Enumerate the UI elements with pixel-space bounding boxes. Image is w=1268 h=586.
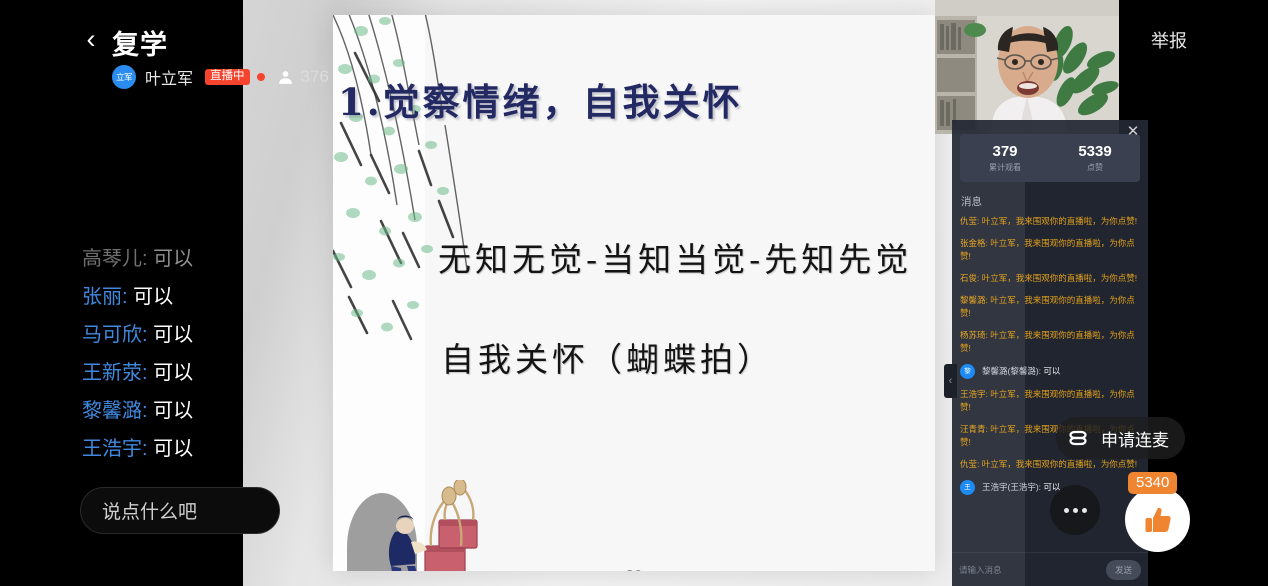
room-header: ‹ 复学 立军 叶立军 直播中 376 xyxy=(0,0,243,110)
overlay-message-text: 可以 xyxy=(148,362,194,384)
chat-message-author: 汪青青: xyxy=(960,424,990,434)
slide-line-1: 无知无觉-当知当觉-先知先觉 xyxy=(438,233,912,281)
viewer-count-group: 376 xyxy=(277,67,329,87)
thumbs-up-icon xyxy=(1141,503,1175,537)
avatar[interactable]: 立军 xyxy=(112,65,136,89)
host-row: 立军 叶立军 直播中 376 xyxy=(112,64,329,90)
chat-input-placeholder[interactable]: 请输入消息 xyxy=(959,564,1106,576)
overlay-message-text: 可以 xyxy=(148,400,194,422)
overlay-message-text: 可以 xyxy=(148,438,194,460)
slide-title: 1.觉察情绪，自我关怀 xyxy=(338,72,743,126)
chat-message-text: 叶立军，我来围观你的直播啦，为你点赞! xyxy=(982,273,1137,283)
avatar[interactable]: 王 xyxy=(960,480,975,495)
slide-stage: 1.觉察情绪，自我关怀 无知无觉-当知当觉-先知先觉 自我关怀（蝴蝶拍） xyxy=(243,0,1025,586)
chat-message-author: 仇莹: xyxy=(960,459,982,469)
slide-card: 1.觉察情绪，自我关怀 无知无觉-当知当觉-先知先觉 自我关怀（蝴蝶拍） xyxy=(333,15,935,571)
report-button[interactable]: 举报 xyxy=(1151,27,1187,53)
chat-gift-message: 杨苏琦: 叶立军，我来围观你的直播啦，为你点赞! xyxy=(960,329,1140,355)
chat-message-author: 仇莹: xyxy=(960,216,982,226)
overlay-message-text: 可以 xyxy=(148,324,194,346)
chat-user-message: 黎黎馨潞(黎馨潞): 可以 xyxy=(960,364,1140,379)
live-pulse-dot xyxy=(257,73,265,81)
viewer-count: 376 xyxy=(301,67,329,87)
composer-input[interactable]: 说点什么吧 xyxy=(80,487,280,534)
slide-line-2: 自我关怀（蝴蝶拍） xyxy=(441,333,774,381)
like-count-badge: 5340 xyxy=(1128,472,1177,494)
chat-gift-message: 仇莹: 叶立军，我来围观你的直播啦，为你点赞! xyxy=(960,458,1140,471)
overlay-message: 王浩宇: 可以 xyxy=(82,430,262,468)
close-icon[interactable]: ✕ xyxy=(1124,123,1142,141)
avatar[interactable]: 黎 xyxy=(960,364,975,379)
overlay-message: 王新荥: 可以 xyxy=(82,354,262,392)
illustration-porter xyxy=(381,480,499,571)
send-button[interactable]: 发送 xyxy=(1106,560,1141,580)
stat-label: 点赞 xyxy=(1050,162,1140,173)
more-dots-icon xyxy=(1064,508,1087,513)
like-button[interactable] xyxy=(1125,487,1190,552)
chat-message-author: 石俊: xyxy=(960,273,982,283)
stat-value: 379 xyxy=(960,143,1050,160)
stat-value: 5339 xyxy=(1050,143,1140,160)
live-class-screen: 1.觉察情绪，自我关怀 无知无觉-当知当觉-先知先觉 自我关怀（蝴蝶拍） xyxy=(0,0,1268,586)
stat-item: 5339点赞 xyxy=(1050,143,1140,173)
overlay-message-author: 王浩宇: xyxy=(82,438,148,460)
chat-collapse-toggle[interactable]: ‹ xyxy=(944,364,957,398)
chat-message-author: 张金格: xyxy=(960,238,990,248)
chat-message-text: 可以 xyxy=(1043,366,1060,376)
overlay-message: 黎馨潞: 可以 xyxy=(82,392,262,430)
composer-placeholder: 说点什么吧 xyxy=(102,497,197,524)
chat-message-text: 叶立军，我来围观你的直播啦，为你点赞! xyxy=(982,459,1137,469)
status-badge: 直播中 xyxy=(205,69,250,86)
chat-gift-message: 仇莹: 叶立军，我来围观你的直播啦，为你点赞! xyxy=(960,215,1140,228)
chat-section-label: 消息 xyxy=(961,194,1148,209)
person-icon xyxy=(277,69,294,86)
chat-input-row[interactable]: 请输入消息 发送 xyxy=(952,552,1148,586)
chat-gift-message: 黎馨潞: 叶立军，我来围观你的直播啦，为你点赞! xyxy=(960,294,1140,320)
chat-gift-message: 张金格: 叶立军，我来围观你的直播啦，为你点赞! xyxy=(960,237,1140,263)
apply-mic-label: 申请连麦 xyxy=(1101,426,1169,451)
overlay-message: 张丽: 可以 xyxy=(82,278,262,316)
chat-gift-message: 石俊: 叶立军，我来围观你的直播啦，为你点赞! xyxy=(960,272,1140,285)
chat-stats: 379累计观看5339点赞 xyxy=(960,134,1140,182)
overlay-message-author: 王新荥: xyxy=(82,362,148,384)
chat-user-message: 王王浩宇(王浩宇): 可以 xyxy=(960,480,1140,495)
overlay-message-author: 黎馨潞: xyxy=(82,400,148,422)
stat-item: 379累计观看 xyxy=(960,143,1050,173)
apply-mic-button[interactable]: 申请连麦 xyxy=(1056,417,1185,459)
chat-message-author: 王浩宇(王浩宇): xyxy=(982,482,1043,492)
chat-message-body: 黎馨潞(黎馨潞): 可以 xyxy=(982,364,1060,378)
overlay-message-author: 张丽: xyxy=(82,286,128,308)
chat-message-author: 杨苏琦: xyxy=(960,330,990,340)
chat-gift-message: 王浩宇: 叶立军，我来围观你的直播啦，为你点赞! xyxy=(960,388,1140,414)
chat-message-author: 王浩宇: xyxy=(960,389,990,399)
chat-message-author: 黎馨潞(黎馨潞): xyxy=(982,366,1043,376)
host-name: 叶立军 xyxy=(145,65,193,89)
chat-message-body: 王浩宇(王浩宇): 可以 xyxy=(982,480,1060,494)
back-icon[interactable]: ‹ xyxy=(80,26,102,52)
host-webcam-video[interactable] xyxy=(935,0,1119,134)
stat-label: 累计观看 xyxy=(960,162,1050,173)
chat-message-text: 叶立军，我来围观你的直播啦，为你点赞! xyxy=(982,216,1137,226)
link-chain-icon xyxy=(1066,425,1092,451)
overlay-message-author: 马可欣: xyxy=(82,324,148,346)
chat-message-author: 黎馨潞: xyxy=(960,295,990,305)
chat-message-list[interactable]: 仇莹: 叶立军，我来围观你的直播啦，为你点赞!张金格: 叶立军，我来围观你的直播… xyxy=(952,215,1148,552)
overlay-message-text: 可以 xyxy=(128,286,174,308)
overlay-message: 马可欣: 可以 xyxy=(82,316,262,354)
overlay-message-text: 可以 xyxy=(148,248,194,270)
slide-page-number: 20 xyxy=(333,567,935,571)
room-title: 复学 xyxy=(112,23,168,62)
overlay-message-list: 高琴儿: 可以张丽: 可以马可欣: 可以王新荥: 可以黎馨潞: 可以王浩宇: 可… xyxy=(82,240,262,468)
overlay-message: 高琴儿: 可以 xyxy=(82,240,262,278)
more-options-button[interactable] xyxy=(1050,485,1100,535)
overlay-message-author: 高琴儿: xyxy=(82,248,148,270)
